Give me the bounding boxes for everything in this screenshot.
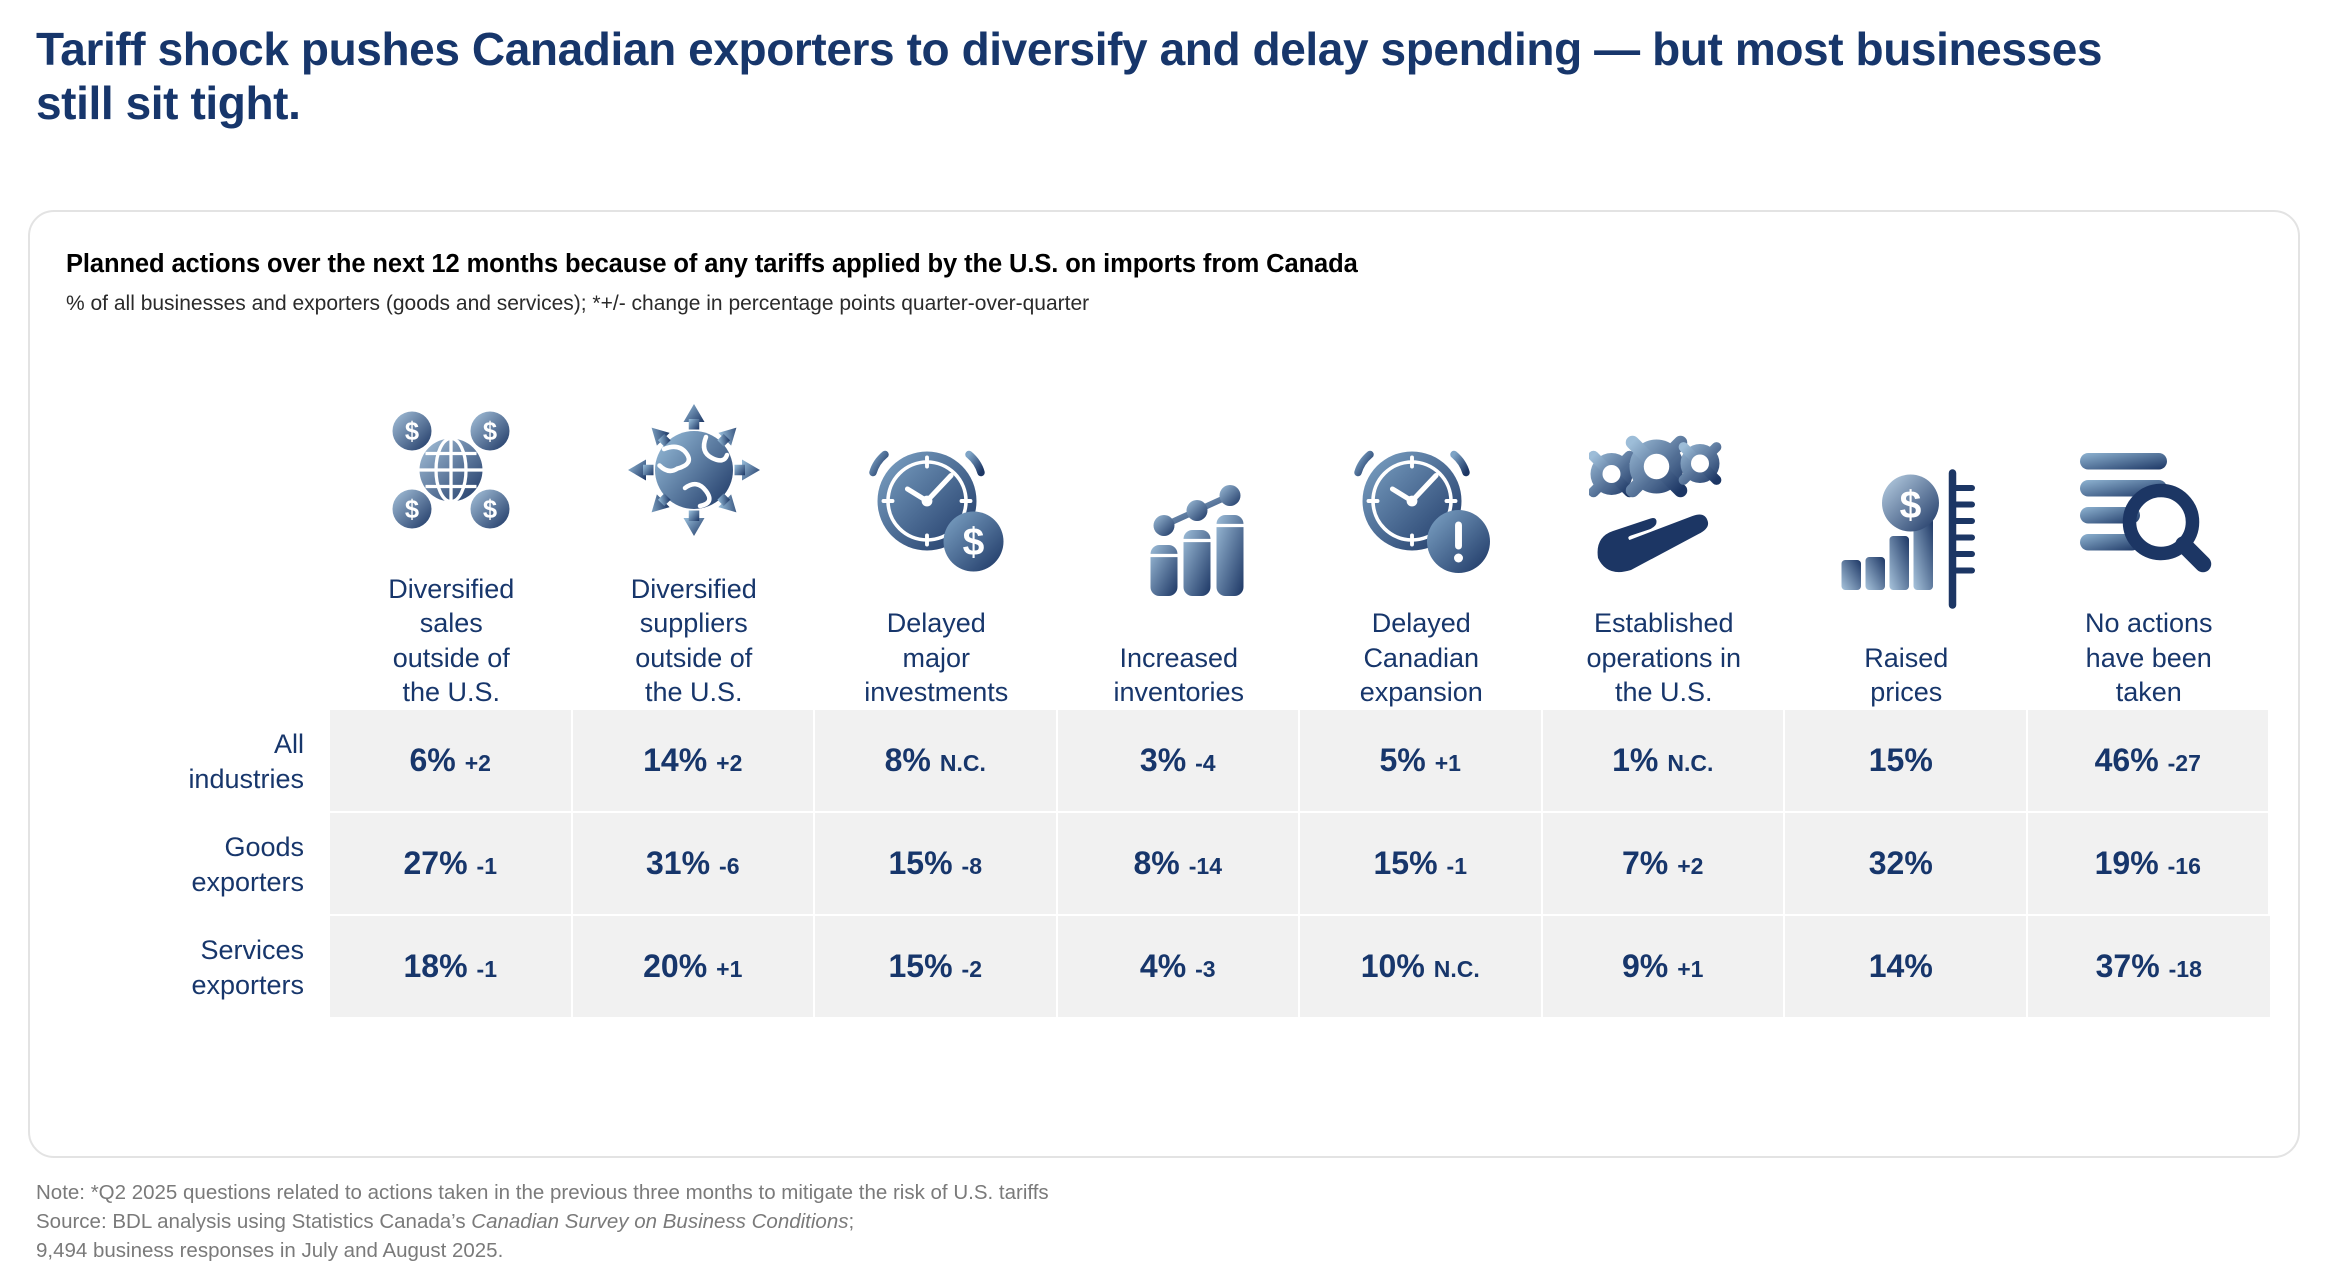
column-header-raised-prices: $ Raised prices <box>1785 330 2028 710</box>
cell-delta: +2 <box>716 750 742 777</box>
table-cell: 8%-14 <box>1058 813 1301 916</box>
column-header-label: Raised prices <box>1858 641 1954 710</box>
table-cell: 7%+2 <box>1543 813 1786 916</box>
table-cell: 15%-2 <box>815 916 1058 1019</box>
table-cell: 20%+1 <box>573 916 816 1019</box>
cell-value: 18% <box>404 948 468 985</box>
card-title: Planned actions over the next 12 months … <box>66 250 1358 279</box>
table-cell: 10%N.C. <box>1300 916 1543 1019</box>
cell-value: 20% <box>643 948 707 985</box>
cell-delta: +1 <box>716 956 742 983</box>
clock-dollar-icon: $ <box>861 424 1011 584</box>
cell-value: 10% <box>1361 948 1425 985</box>
clock-alert-icon <box>1346 424 1496 584</box>
column-header-label: Delayed Canadian expansion <box>1354 606 1489 710</box>
column-header-diversified-sales: $$ $$ Diversified sales outside of the U… <box>330 330 573 710</box>
cell-delta: N.C. <box>1667 750 1713 777</box>
cell-value: 32% <box>1869 845 1933 882</box>
table-cell: 31%-6 <box>573 813 816 916</box>
cell-value: 27% <box>404 845 468 882</box>
cell-value: 7% <box>1622 845 1668 882</box>
table-cell: 4%-3 <box>1058 916 1301 1019</box>
table-cell: 37%-18 <box>2028 916 2271 1019</box>
table-cell: 15% <box>1785 710 2028 813</box>
cell-delta: N.C. <box>940 750 986 777</box>
cell-value: 9% <box>1622 948 1668 985</box>
svg-text:$: $ <box>483 418 497 446</box>
cell-value: 4% <box>1140 948 1186 985</box>
hand-gears-icon <box>1589 424 1739 584</box>
cell-delta: -6 <box>719 853 739 880</box>
column-header-delayed-expansion: Delayed Canadian expansion <box>1300 330 1543 710</box>
cell-value: 5% <box>1380 742 1426 779</box>
table-cell: 32% <box>1785 813 2028 916</box>
table-cell: 3%-4 <box>1058 710 1301 813</box>
cell-value: 8% <box>1134 845 1180 882</box>
table-cell: 19%-16 <box>2028 813 2271 916</box>
cell-delta: +2 <box>1677 853 1703 880</box>
table-cell: 6%+2 <box>330 710 573 813</box>
svg-text:$: $ <box>1900 484 1922 527</box>
table-cell: 46%-27 <box>2028 710 2271 813</box>
column-header-delayed-investments: $ Delayed major investments <box>815 330 1058 710</box>
svg-text:$: $ <box>405 418 419 446</box>
cell-value: 37% <box>2096 948 2160 985</box>
footnote-source-title: Canadian Survey on Business Conditions <box>471 1210 848 1233</box>
cell-value: 15% <box>889 845 953 882</box>
footnote-source: Source: BDL analysis using Statistics Ca… <box>36 1207 1049 1236</box>
globe-dollars-icon: $$ $$ <box>376 390 526 550</box>
table-cell: 14% <box>1785 916 2028 1019</box>
data-table: $$ $$ Diversified sales outside of the U… <box>60 330 2270 1019</box>
table-cell: 8%N.C. <box>815 710 1058 813</box>
bar-chart-line-icon <box>1104 459 1254 619</box>
column-header-label: Diversified suppliers outside of the U.S… <box>625 572 763 710</box>
cell-value: 15% <box>1374 845 1438 882</box>
footnote-source-prefix: Source: BDL analysis using Statistics Ca… <box>36 1210 471 1233</box>
cell-delta: -2 <box>962 956 982 983</box>
svg-text:$: $ <box>405 496 419 524</box>
column-header-label: Diversified sales outside of the U.S. <box>382 572 520 710</box>
cell-delta: -1 <box>1447 853 1467 880</box>
cell-delta: -14 <box>1189 853 1222 880</box>
column-header-diversified-suppliers: Diversified suppliers outside of the U.S… <box>573 330 816 710</box>
table-corner-cell <box>60 330 330 710</box>
cell-delta: -1 <box>477 853 497 880</box>
cell-delta: -27 <box>2168 750 2201 777</box>
cell-delta: -16 <box>2168 853 2201 880</box>
cell-value: 15% <box>889 948 953 985</box>
svg-text:$: $ <box>963 521 985 564</box>
row-label-services-exporters: Services exporters <box>60 916 330 1019</box>
cell-value: 8% <box>885 742 931 779</box>
table-cell: 1%N.C. <box>1543 710 1786 813</box>
table-cell: 9%+1 <box>1543 916 1786 1019</box>
table-cell: 18%-1 <box>330 916 573 1019</box>
column-header-label: Increased inventories <box>1107 641 1250 710</box>
table-cell: 5%+1 <box>1300 710 1543 813</box>
table-cell: 27%-1 <box>330 813 573 916</box>
cell-delta: -3 <box>1195 956 1215 983</box>
cell-delta: -1 <box>477 956 497 983</box>
cell-value: 15% <box>1869 742 1933 779</box>
cell-delta: -18 <box>2169 956 2202 983</box>
footnote-note: Note: *Q2 2025 questions related to acti… <box>36 1178 1049 1207</box>
cell-value: 3% <box>1140 742 1186 779</box>
cell-delta: +1 <box>1435 750 1461 777</box>
cell-value: 14% <box>643 742 707 779</box>
page-title: Tariff shock pushes Canadian exporters t… <box>36 22 2176 131</box>
column-header-label: Delayed major investments <box>858 606 1014 710</box>
chart-card: Planned actions over the next 12 months … <box>28 210 2300 1158</box>
cell-value: 31% <box>646 845 710 882</box>
cell-value: 46% <box>2095 742 2159 779</box>
cell-value: 6% <box>410 742 456 779</box>
footnote-source-suffix: ; <box>848 1210 854 1233</box>
cell-value: 14% <box>1869 948 1933 985</box>
column-header-increased-inventories: Increased inventories <box>1058 330 1301 710</box>
bars-dollar-ruler-icon: $ <box>1831 459 1981 619</box>
list-magnifier-icon <box>2074 424 2224 584</box>
cell-delta: +2 <box>465 750 491 777</box>
cell-value: 19% <box>2095 845 2159 882</box>
cell-value: 1% <box>1612 742 1658 779</box>
cell-delta: +1 <box>1677 956 1703 983</box>
card-subtitle: % of all businesses and exporters (goods… <box>66 292 1089 316</box>
column-header-label: No actions have been taken <box>2079 606 2219 710</box>
globe-arrows-icon <box>619 390 769 550</box>
table-cell: 14%+2 <box>573 710 816 813</box>
column-header-established-operations: Established operations in the U.S. <box>1543 330 1786 710</box>
cell-delta: -4 <box>1195 750 1215 777</box>
footnotes: Note: *Q2 2025 questions related to acti… <box>36 1178 1049 1265</box>
column-header-label: Established operations in the U.S. <box>1580 606 1747 710</box>
footnote-responses: 9,494 business responses in July and Aug… <box>36 1236 1049 1265</box>
cell-delta: N.C. <box>1434 956 1480 983</box>
svg-text:$: $ <box>483 496 497 524</box>
column-header-no-actions: No actions have been taken <box>2028 330 2271 710</box>
row-label-all-industries: All industries <box>60 710 330 813</box>
cell-delta: -8 <box>962 853 982 880</box>
row-label-goods-exporters: Goods exporters <box>60 813 330 916</box>
table-cell: 15%-1 <box>1300 813 1543 916</box>
table-cell: 15%-8 <box>815 813 1058 916</box>
